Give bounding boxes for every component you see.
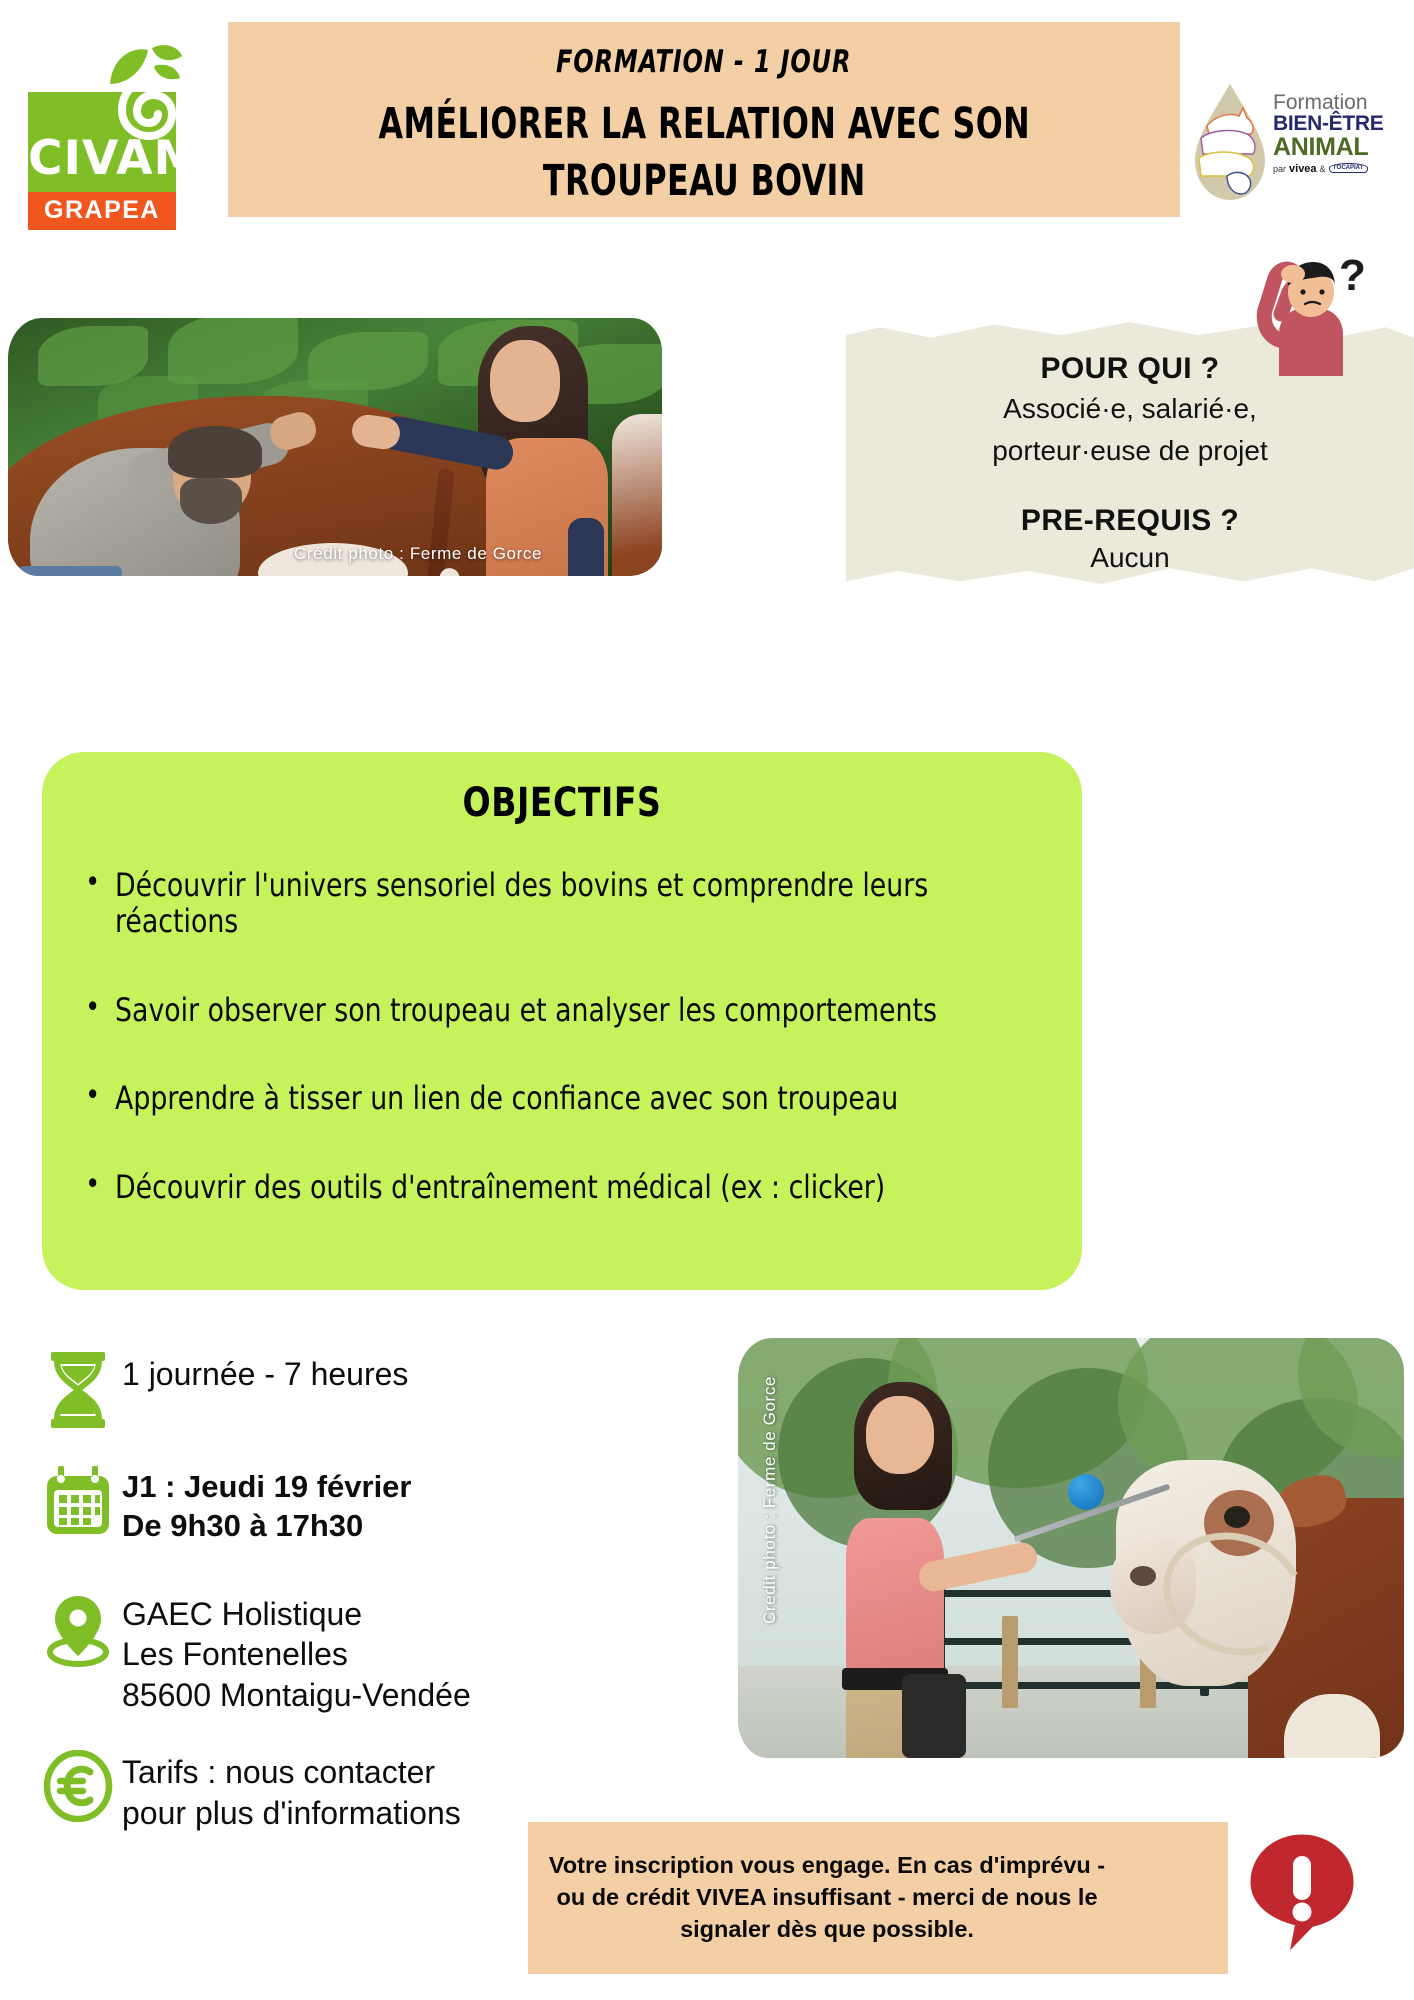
euro-icon-wrap: [34, 1746, 122, 1822]
pre-requis-heading: PRE-REQUIS ?: [882, 504, 1378, 538]
info-row-date: J1 : Jeudi 19 février De 9h30 à 17h30: [34, 1462, 674, 1546]
bien-etre-animal-logo: Formation BIEN-ÊTRE ANIMAL par vivea & l…: [1193, 78, 1388, 213]
bea-partners: par vivea & l'OCAPIAT: [1273, 163, 1391, 175]
date-line1: J1 : Jeudi 19 février: [122, 1468, 412, 1507]
objectif-item: Apprendre à tisser un lien de confiance …: [76, 1081, 1012, 1117]
warning-banner: Votre inscription vous engage. En cas d'…: [528, 1822, 1228, 1974]
civam-wordmark: CIVAM: [28, 135, 176, 182]
hourglass-icon: [47, 1352, 109, 1428]
pour-qui-body-line2: porteur·euse de projet: [882, 432, 1378, 470]
photo-bottom-credit: Crédit photo : Ferme de Gorce: [760, 1376, 780, 1624]
page-title-line2: TROUPEAU BOVIN: [378, 153, 1030, 210]
bea-line-animal: ANIMAL: [1273, 135, 1391, 160]
objectifs-title: OBJECTIFS: [84, 780, 1041, 826]
ocapiat-badge: l'OCAPIAT: [1329, 163, 1369, 173]
date-line2: De 9h30 à 17h30: [122, 1507, 412, 1546]
objectif-item: Savoir observer son troupeau et analyser…: [76, 993, 1012, 1029]
page-title: AMÉLIORER LA RELATION AVEC SON TROUPEAU …: [378, 96, 1030, 210]
place-line1: GAEC Holistique: [122, 1594, 471, 1635]
photo-top-credit: Crédit photo : Ferme de Gorce: [294, 544, 542, 564]
header: CIVAM GRAPEA FORMATION - 1 JOUR AMÉLIORE…: [0, 0, 1414, 290]
bea-line-bienetre: BIEN-ÊTRE: [1273, 113, 1391, 135]
objectifs-list: Découvrir l'univers sensoriel des bovins…: [76, 868, 1082, 1206]
objectif-item: Découvrir des outils d'entraînement médi…: [76, 1170, 1012, 1206]
photo-bottom: Crédit photo : Ferme de Gorce: [738, 1338, 1404, 1758]
practical-info: 1 journée - 7 heures J1 : Jeu: [34, 1348, 674, 1860]
exclamation-speech-bubble-icon: [1240, 1828, 1364, 1962]
thinking-person-icon: ?: [1235, 248, 1370, 383]
kicker-label: FORMATION - 1 JOUR: [556, 44, 851, 80]
photo-top: Crédit photo : Ferme de Gorce: [8, 318, 662, 576]
bea-line-formation: Formation: [1273, 92, 1391, 113]
place-text: GAEC Holistique Les Fontenelles 85600 Mo…: [122, 1588, 471, 1717]
bea-par-label: par: [1273, 164, 1286, 174]
photo-bottom-scene: [738, 1338, 1404, 1758]
civam-logo: CIVAM GRAPEA: [28, 40, 176, 235]
animal-silhouette-droplet-icon: [1193, 82, 1267, 202]
calendar-icon: [45, 1466, 111, 1536]
price-line1: Tarifs : nous contacter: [122, 1752, 461, 1793]
place-line2: Les Fontenelles: [122, 1634, 471, 1675]
objectif-item: Découvrir l'univers sensoriel des bovins…: [76, 868, 1012, 940]
objectifs-panel: OBJECTIFS Découvrir l'univers sensoriel …: [42, 752, 1082, 1290]
info-row-duration: 1 journée - 7 heures: [34, 1348, 674, 1428]
price-line2: pour plus d'informations: [122, 1793, 461, 1834]
grapea-wordmark: GRAPEA: [28, 196, 176, 225]
info-row-place: GAEC Holistique Les Fontenelles 85600 Mo…: [34, 1588, 674, 1717]
svg-text:?: ?: [1339, 251, 1366, 300]
hourglass-icon-wrap: [34, 1348, 122, 1428]
map-pin-icon: [45, 1592, 111, 1668]
date-text: J1 : Jeudi 19 février De 9h30 à 17h30: [122, 1462, 412, 1546]
duration-text: 1 journée - 7 heures: [122, 1348, 408, 1395]
calendar-icon-wrap: [34, 1462, 122, 1536]
price-text: Tarifs : nous contacter pour plus d'info…: [122, 1746, 461, 1834]
pre-requis-body: Aucun: [882, 542, 1378, 574]
photo-top-scene: [8, 318, 662, 576]
page-title-line1: AMÉLIORER LA RELATION AVEC SON: [378, 96, 1030, 153]
pour-qui-body-line1: Associé·e, salarié·e,: [882, 390, 1378, 428]
place-line3: 85600 Montaigu-Vendée: [122, 1675, 471, 1716]
title-band: FORMATION - 1 JOUR AMÉLIORER LA RELATION…: [228, 22, 1180, 217]
warning-text: Votre inscription vous engage. En cas d'…: [546, 1850, 1108, 1946]
euro-circle-icon: [43, 1750, 113, 1822]
map-pin-icon-wrap: [34, 1588, 122, 1668]
bea-amp: &: [1320, 164, 1326, 174]
vivea-wordmark: vivea: [1289, 163, 1317, 175]
